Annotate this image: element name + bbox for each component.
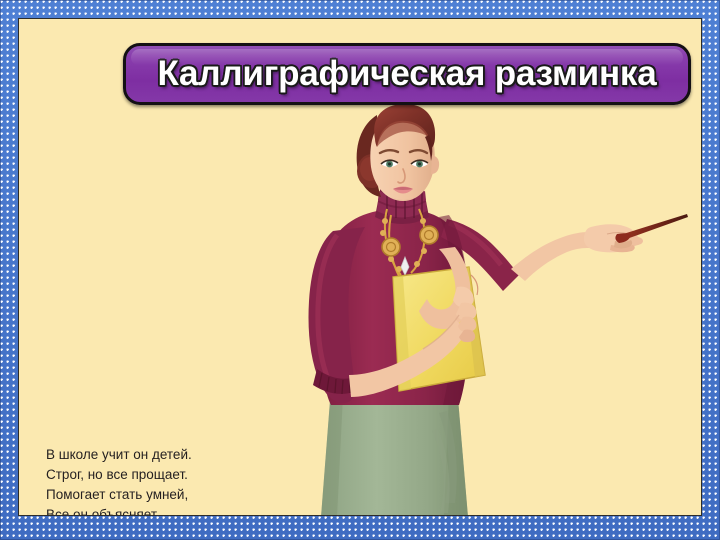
- content-panel: Каллиграфическая разминка В школе учит о…: [18, 18, 702, 516]
- riddle-line: Все он объясняет.: [46, 505, 192, 516]
- slide-canvas: Каллиграфическая разминка В школе учит о…: [0, 0, 720, 540]
- sweater-body: [309, 210, 520, 405]
- pointing-arm: [511, 214, 688, 281]
- neck: [385, 161, 423, 197]
- pointer-stick: [620, 214, 688, 241]
- page-title: Каллиграфическая разминка: [126, 54, 688, 94]
- holding-arm: [349, 247, 478, 397]
- riddle-text-block: В школе учит он детей. Строг, но все про…: [46, 445, 192, 516]
- head: [357, 104, 439, 201]
- riddle-line: Строг, но все прощает.: [46, 465, 192, 485]
- hand-fingers: [453, 275, 478, 342]
- necklace-beads: [380, 218, 430, 272]
- turtleneck-collar: [375, 185, 429, 224]
- yellow-folder: [393, 267, 485, 391]
- necklace-coin-pendants: [382, 226, 438, 275]
- title-plaque: Каллиграфическая разминка: [123, 43, 691, 105]
- riddle-line: В школе учит он детей.: [46, 445, 192, 465]
- pointing-hand: [584, 224, 643, 252]
- riddle-line: Помогает стать умней,: [46, 485, 192, 505]
- necklace-jewelry: [385, 209, 425, 285]
- skirt: [321, 375, 468, 516]
